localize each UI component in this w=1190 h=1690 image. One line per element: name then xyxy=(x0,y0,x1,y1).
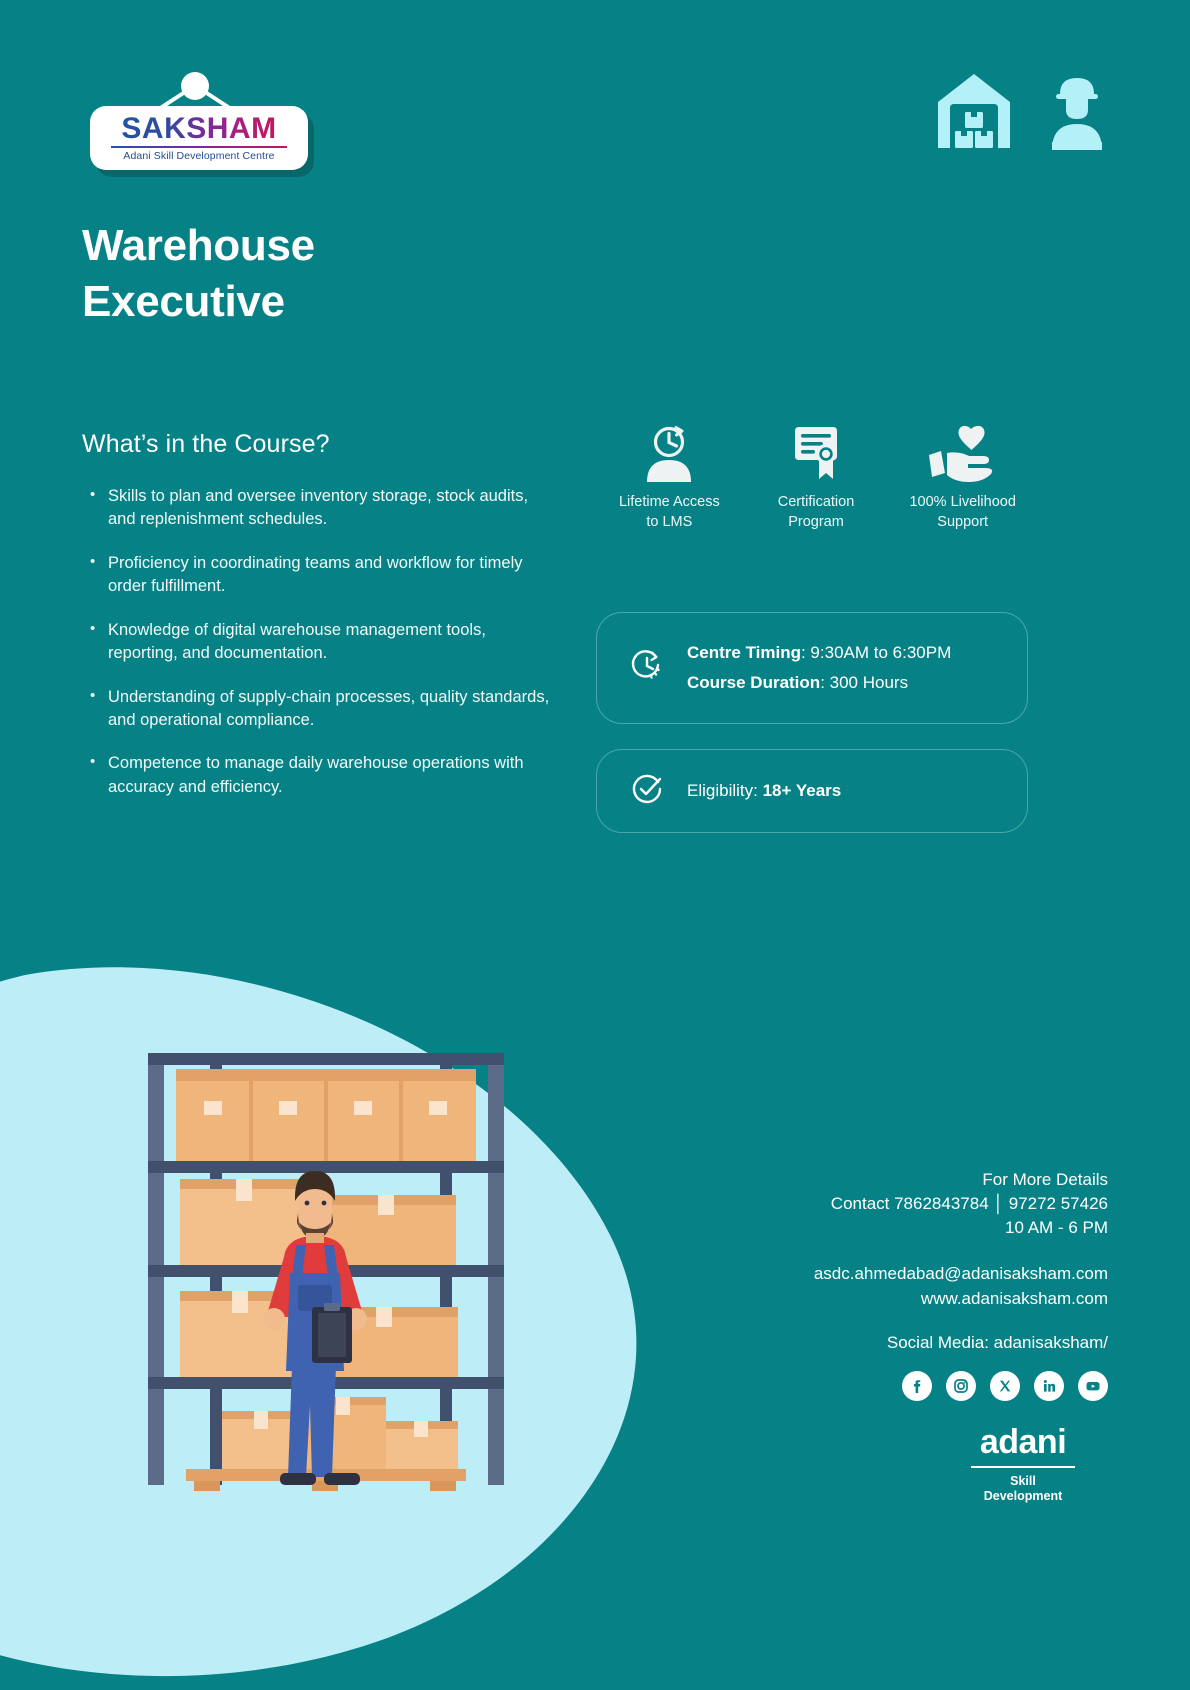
centre-timing-label: Centre Timing xyxy=(687,643,801,662)
centre-timing-line: Centre Timing: 9:30AM to 6:30PM xyxy=(687,643,951,663)
warehouse-icon xyxy=(936,72,1012,155)
feature-label-line1: 100% Livelihood xyxy=(909,493,1015,513)
contact-phones[interactable]: Contact 7862843784 │ 97272 57426 xyxy=(678,1192,1108,1216)
hand-heart-icon xyxy=(927,425,999,483)
course-duration-label: Course Duration xyxy=(687,673,820,692)
eligibility-line: Eligibility: 18+ Years xyxy=(687,781,841,801)
eligibility-label: Eligibility: xyxy=(687,781,763,800)
feature-label: 100% Livelihood Support xyxy=(909,493,1015,532)
list-item: Skills to plan and oversee inventory sto… xyxy=(82,485,552,532)
contact-website[interactable]: www.adanisaksham.com xyxy=(678,1287,1108,1311)
centre-timing-value: : 9:30AM to 6:30PM xyxy=(801,643,951,662)
clock-person-icon xyxy=(638,425,700,483)
header-icon-group xyxy=(936,72,1110,155)
warehouse-worker-illustration xyxy=(140,1045,520,1505)
contact-hours: 10 AM - 6 PM xyxy=(678,1216,1108,1240)
youtube-icon[interactable] xyxy=(1078,1371,1108,1401)
centre-timing-card: Centre Timing: 9:30AM to 6:30PM Course D… xyxy=(596,612,1028,724)
check-circle-icon xyxy=(629,771,665,812)
logo-plate: SAKSHAM Adani Skill Development Centre xyxy=(90,106,308,170)
course-duration-line: Course Duration: 300 Hours xyxy=(687,673,951,693)
feature-label-line2: to LMS xyxy=(619,513,720,533)
course-heading: What’s in the Course? xyxy=(82,430,552,459)
logo-subtitle: Adani Skill Development Centre xyxy=(123,150,274,162)
list-item: Competence to manage daily warehouse ope… xyxy=(82,752,552,799)
course-bullet-list: Skills to plan and oversee inventory sto… xyxy=(82,485,552,799)
adani-divider xyxy=(971,1466,1075,1468)
contact-block: For More Details Contact 7862843784 │ 97… xyxy=(678,1168,1108,1401)
poster-root: SAKSHAM Adani Skill Development Centre xyxy=(0,0,1190,1684)
instagram-icon[interactable] xyxy=(946,1371,976,1401)
worker-person-icon xyxy=(1044,74,1110,155)
social-media-handle[interactable]: Social Media: adanisaksham/ xyxy=(678,1331,1108,1355)
saksham-logo: SAKSHAM Adani Skill Development Centre xyxy=(80,70,310,190)
feature-highlights: Lifetime Access to LMS Certification Pro… xyxy=(596,425,1036,532)
eligibility-card: Eligibility: 18+ Years xyxy=(596,749,1028,833)
facebook-icon[interactable] xyxy=(902,1371,932,1401)
feature-label: Lifetime Access to LMS xyxy=(619,493,720,532)
title-line-1: Warehouse xyxy=(82,218,315,274)
x-twitter-icon[interactable] xyxy=(990,1371,1020,1401)
adani-sub2: Development xyxy=(938,1489,1108,1505)
title-line-2: Executive xyxy=(82,274,315,330)
course-duration-value: : 300 Hours xyxy=(820,673,908,692)
feature-label: Certification Program xyxy=(778,493,855,532)
list-item: Knowledge of digital warehouse managemen… xyxy=(82,619,552,666)
feature-label-line2: Program xyxy=(778,513,855,533)
feature-certification: Certification Program xyxy=(743,425,890,532)
social-icon-row xyxy=(678,1371,1108,1401)
linkedin-icon[interactable] xyxy=(1034,1371,1064,1401)
adani-sub1: Skill xyxy=(938,1474,1108,1490)
adani-skill-development-logo: adani Skill Development xyxy=(938,1425,1108,1505)
feature-label-line1: Certification xyxy=(778,493,855,513)
certificate-icon xyxy=(785,425,847,483)
adani-wordmark: adani xyxy=(938,1425,1108,1459)
list-item: Proficiency in coordinating teams and wo… xyxy=(82,552,552,599)
contact-email[interactable]: asdc.ahmedabad@adanisaksham.com xyxy=(678,1262,1108,1286)
contact-heading: For More Details xyxy=(678,1168,1108,1192)
feature-lifetime-access: Lifetime Access to LMS xyxy=(596,425,743,532)
feature-label-line1: Lifetime Access xyxy=(619,493,720,513)
feature-label-line2: Support xyxy=(909,513,1015,533)
list-item: Understanding of supply-chain processes,… xyxy=(82,686,552,733)
feature-livelihood-support: 100% Livelihood Support xyxy=(889,425,1036,532)
logo-divider xyxy=(111,146,287,148)
timing-lines: Centre Timing: 9:30AM to 6:30PM Course D… xyxy=(687,643,951,694)
logo-wordmark: SAKSHAM xyxy=(121,114,276,144)
page-title: Warehouse Executive xyxy=(82,218,315,331)
eligibility-value: 18+ Years xyxy=(763,781,842,800)
clock-icon xyxy=(629,648,665,689)
course-section: What’s in the Course? Skills to plan and… xyxy=(82,430,552,819)
